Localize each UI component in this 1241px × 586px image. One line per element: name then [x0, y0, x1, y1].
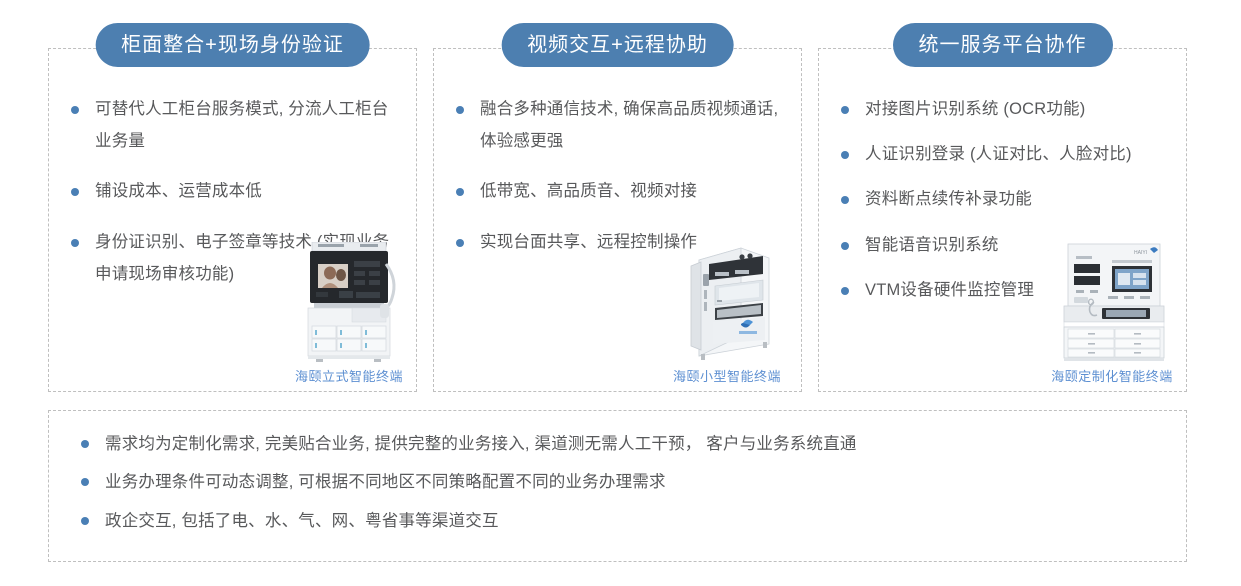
list-item: 融合多种通信技术, 确保高品质视频通话, 体验感更强: [448, 93, 785, 157]
customized-terminal-icon: HAIYI: [1050, 240, 1174, 362]
list-item: 可替代人工柜台服务模式, 分流人工柜台业务量: [63, 93, 395, 157]
feature-panel-2: 视频交互+远程协助 融合多种通信技术, 确保高品质视频通话, 体验感更强 低带宽…: [433, 48, 802, 392]
device-caption-3: 海颐定制化智能终端: [1046, 366, 1178, 385]
standing-smart-terminal-image: [290, 242, 408, 362]
slide-canvas: 柜面整合+现场身份验证 可替代人工柜台服务模式, 分流人工柜台业务量 铺设成本、…: [0, 0, 1241, 586]
list-item: 低带宽、高品质音、视频对接: [448, 175, 785, 207]
list-item: 需求均为定制化需求, 完美贴合业务, 提供完整的业务接入, 渠道测无需人工干预，…: [73, 431, 1162, 457]
compact-terminal-icon: [679, 240, 775, 362]
list-item: 铺设成本、运营成本低: [63, 175, 395, 207]
device-figure-3: HAIYI: [1046, 240, 1178, 385]
summary-panel: 需求均为定制化需求, 完美贴合业务, 提供完整的业务接入, 渠道测无需人工干预，…: [48, 410, 1187, 562]
list-item: 人证识别登录 (人证对比、人脸对比): [833, 138, 1195, 170]
panel-2-bullet-list: 融合多种通信技术, 确保高品质视频通话, 体验感更强 低带宽、高品质音、视频对接…: [448, 93, 787, 258]
standing-terminal-icon: [294, 242, 404, 362]
device-figure-2: 海颐小型智能终端: [667, 240, 787, 385]
feature-panel-1: 柜面整合+现场身份验证 可替代人工柜台服务模式, 分流人工柜台业务量 铺设成本、…: [48, 48, 417, 392]
device-caption-1: 海颐立式智能终端: [290, 366, 408, 385]
list-item: 业务办理条件可动态调整, 可根据不同地区不同策略配置不同的业务办理需求: [73, 469, 1162, 495]
panel-3-body: 对接图片识别系统 (OCR功能) 人证识别登录 (人证对比、人脸对比) 资料断点…: [819, 49, 1186, 391]
compact-smart-terminal-image: [667, 240, 787, 362]
feature-columns: 柜面整合+现场身份验证 可替代人工柜台服务模式, 分流人工柜台业务量 铺设成本、…: [48, 48, 1187, 392]
list-item: 对接图片识别系统 (OCR功能): [833, 93, 1195, 125]
list-item: 资料断点续传补录功能: [833, 183, 1195, 215]
panel-1-body: 可替代人工柜台服务模式, 分流人工柜台业务量 铺设成本、运营成本低 身份证识别、…: [49, 49, 416, 391]
customized-smart-terminal-image: HAIYI: [1046, 240, 1178, 362]
feature-panel-3: 统一服务平台协作 对接图片识别系统 (OCR功能) 人证识别登录 (人证对比、人…: [818, 48, 1187, 392]
svg-text:HAIYI: HAIYI: [1134, 250, 1147, 256]
summary-bullet-list: 需求均为定制化需求, 完美贴合业务, 提供完整的业务接入, 渠道测无需人工干预，…: [73, 431, 1162, 534]
panel-2-body: 融合多种通信技术, 确保高品质视频通话, 体验感更强 低带宽、高品质音、视频对接…: [434, 49, 801, 391]
device-figure-1: 海颐立式智能终端: [290, 242, 408, 385]
list-item: 政企交互, 包括了电、水、气、网、粤省事等渠道交互: [73, 508, 1162, 534]
device-caption-2: 海颐小型智能终端: [667, 366, 787, 385]
